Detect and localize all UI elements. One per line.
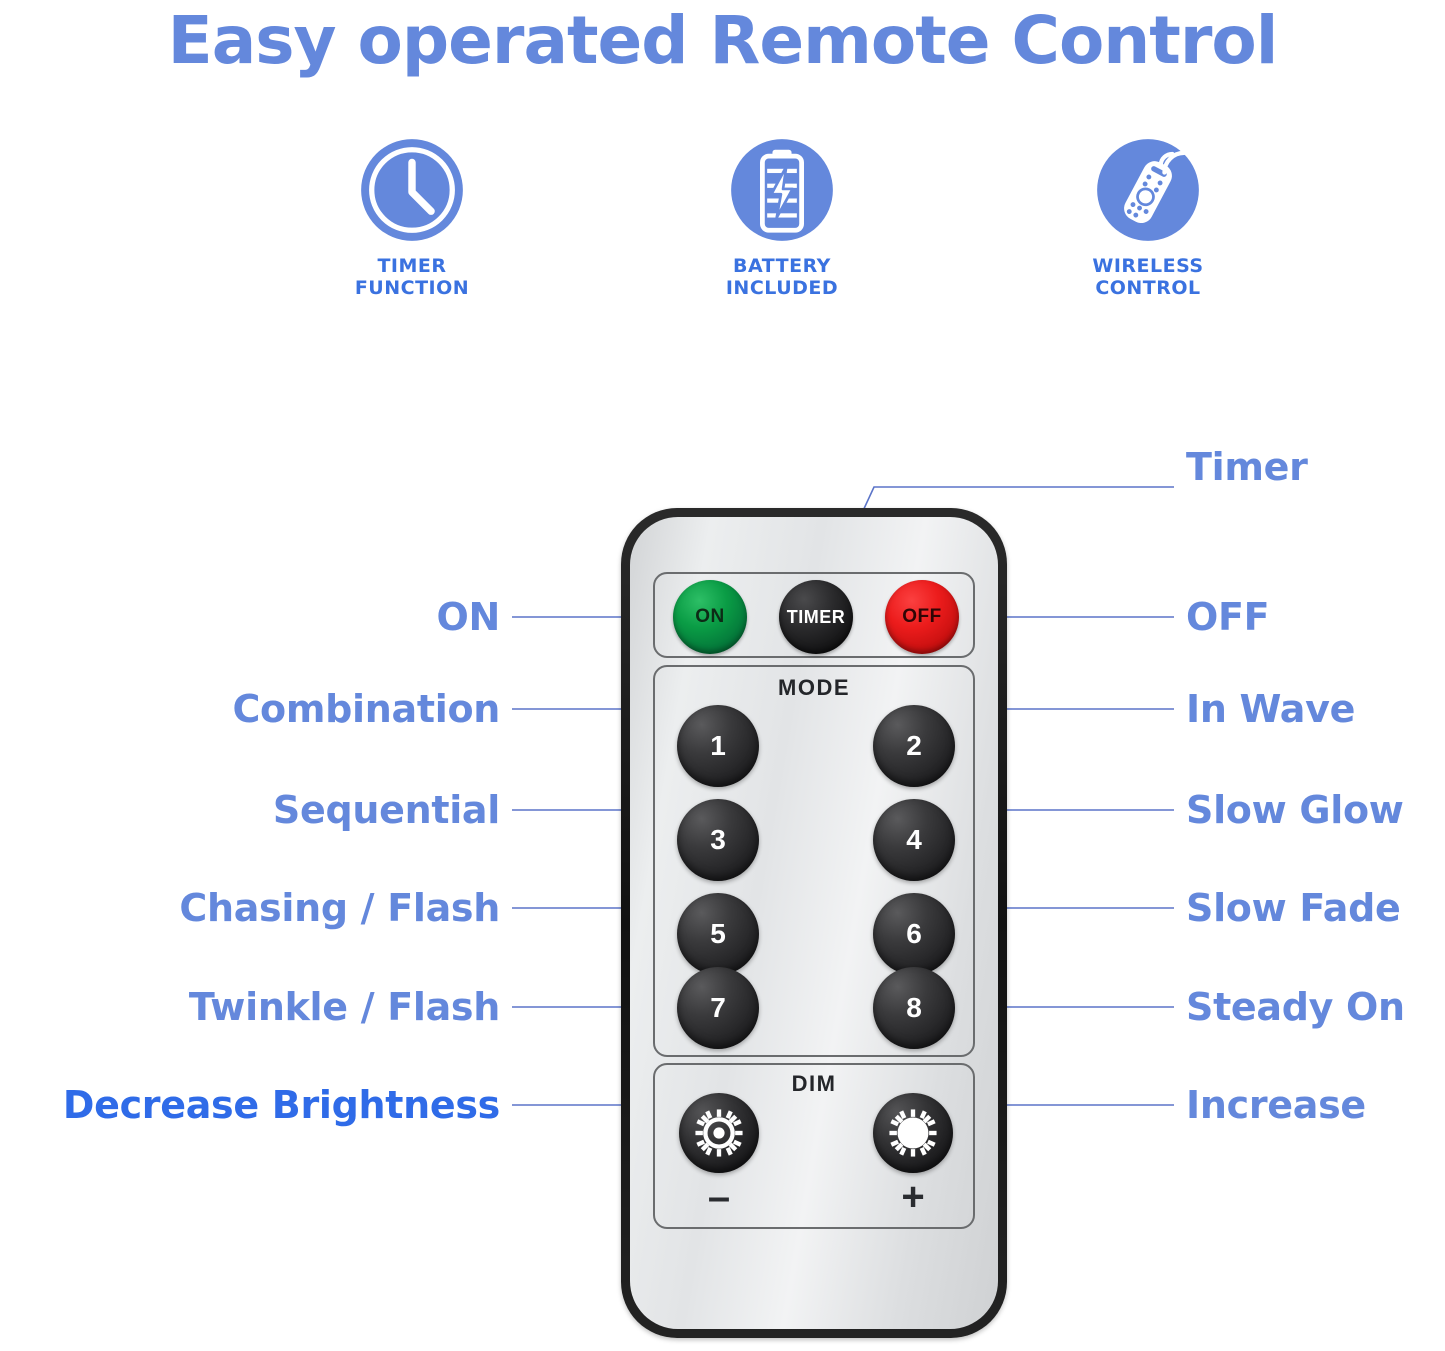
battery-icon	[729, 137, 835, 243]
feature-label: WIRELESS CONTROL	[1018, 255, 1278, 300]
callout-off: OFF	[1186, 595, 1269, 639]
callout-steady-on: Steady On	[1186, 985, 1405, 1029]
feature-timer-function: TIMER FUNCTION	[282, 137, 542, 300]
mode-panel: MODE 1 2 3 4 5 6 7 8	[653, 665, 975, 1057]
callout-in-wave: In Wave	[1186, 687, 1355, 731]
mode-button-1[interactable]: 1	[677, 705, 759, 787]
mode-button-6[interactable]: 6	[873, 893, 955, 975]
mode-panel-label: MODE	[655, 675, 973, 701]
callout-slow-fade: Slow Fade	[1186, 886, 1400, 930]
feature-label: BATTERY INCLUDED	[652, 255, 912, 300]
dim-panel: DIM	[653, 1063, 975, 1229]
feature-battery-included: BATTERY INCLUDED	[652, 137, 912, 300]
callout-timer: Timer	[1186, 445, 1308, 489]
brightness-high-icon	[882, 1102, 944, 1164]
feature-wireless-control: WIRELESS CONTROL	[1018, 137, 1278, 300]
dim-plus-sign: +	[890, 1177, 936, 1217]
dim-increase-button[interactable]	[873, 1093, 953, 1173]
off-button[interactable]: OFF	[885, 580, 959, 654]
dim-minus-sign: –	[696, 1177, 742, 1217]
feature-label: TIMER FUNCTION	[282, 255, 542, 300]
mode-button-7[interactable]: 7	[677, 967, 759, 1049]
mode-button-2[interactable]: 2	[873, 705, 955, 787]
infographic-page: Easy operated Remote Control TIMER FUNCT…	[0, 0, 1445, 1351]
callout-slow-glow: Slow Glow	[1186, 788, 1404, 832]
callout-increase: Increase	[1186, 1083, 1366, 1127]
remote-control: ON TIMER OFF MODE 1 2 3 4 5 6 7 8 DIM	[621, 508, 1007, 1338]
power-panel: ON TIMER OFF	[653, 572, 975, 658]
callout-chasing-flash: Chasing / Flash	[179, 886, 500, 930]
page-title: Easy operated Remote Control	[0, 2, 1445, 79]
remote-icon	[1095, 137, 1201, 243]
brightness-low-icon	[688, 1102, 750, 1164]
mode-button-4[interactable]: 4	[873, 799, 955, 881]
callout-sequential: Sequential	[273, 788, 500, 832]
timer-button[interactable]: TIMER	[779, 580, 853, 654]
mode-button-3[interactable]: 3	[677, 799, 759, 881]
clock-icon	[359, 137, 465, 243]
mode-button-5[interactable]: 5	[677, 893, 759, 975]
dim-panel-label: DIM	[655, 1071, 973, 1097]
callout-on: ON	[436, 595, 500, 639]
on-button[interactable]: ON	[673, 580, 747, 654]
remote-faceplate: ON TIMER OFF MODE 1 2 3 4 5 6 7 8 DIM	[630, 517, 998, 1329]
mode-button-8[interactable]: 8	[873, 967, 955, 1049]
callout-decrease-brightness: Decrease Brightness	[63, 1083, 500, 1127]
dim-decrease-button[interactable]	[679, 1093, 759, 1173]
callout-twinkle-flash: Twinkle / Flash	[189, 985, 500, 1029]
callout-combination: Combination	[232, 687, 500, 731]
